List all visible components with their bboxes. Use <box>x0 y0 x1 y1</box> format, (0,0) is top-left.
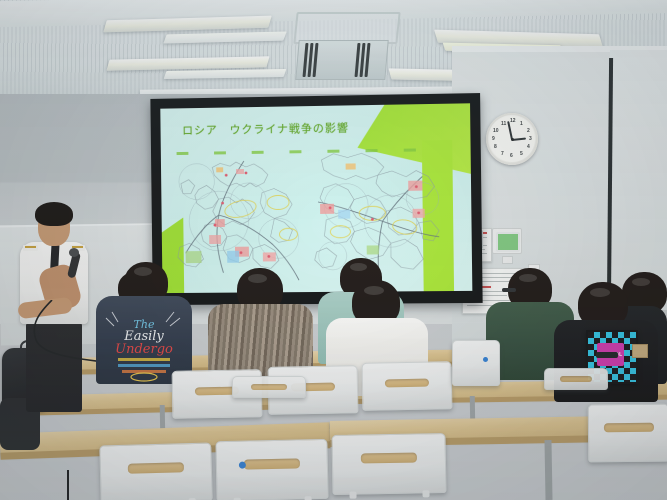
chair-row2-3[interactable] <box>362 361 453 411</box>
clock-numeral: 3 <box>529 137 532 142</box>
chair-row3-2[interactable] <box>544 368 608 390</box>
presenter-leg-seam <box>67 470 69 500</box>
slide-title: ロシア ウクライナ戦争の影響 <box>182 119 349 138</box>
clock-face: 12 1 2 3 4 5 6 7 8 9 10 11 <box>489 116 535 162</box>
laptop-closed-2 <box>596 352 618 358</box>
wall-clock: 12 1 2 3 4 5 6 7 8 9 10 11 <box>486 113 538 165</box>
epaulette-left <box>23 245 38 251</box>
clock-numeral: 2 <box>527 129 530 134</box>
clock-center-pin <box>511 138 514 141</box>
far-right-wall <box>610 50 667 310</box>
presenter-hair <box>35 202 73 226</box>
svg-text:Undergo: Undergo <box>115 342 173 357</box>
clock-numeral: 6 <box>510 154 513 159</box>
thermostat-display <box>496 232 520 252</box>
clock-numeral: 10 <box>493 129 499 134</box>
clock-numeral: 5 <box>520 152 523 157</box>
ceiling-air-vent <box>295 40 388 80</box>
classroom-photo: 12 1 2 3 4 5 6 7 8 9 10 11 <box>0 0 667 500</box>
projection-screen: ロシア ウクライナ戦争の影響 <box>150 93 482 305</box>
clock-numeral: 11 <box>501 122 506 127</box>
chair-row1-1[interactable] <box>99 443 212 500</box>
chair-row3-1[interactable] <box>232 376 306 398</box>
clock-hour-hand <box>512 138 526 141</box>
clock-numeral: 7 <box>501 152 504 157</box>
chair-row1-4[interactable] <box>588 404 667 463</box>
desk-leg <box>544 440 552 500</box>
clock-numeral: 9 <box>492 137 495 142</box>
chair-row1-2[interactable] <box>215 439 328 500</box>
europe-route-map <box>175 152 305 285</box>
small-wall-switch[interactable] <box>502 256 513 264</box>
clock-numeral: 1 <box>520 122 523 127</box>
microphone-head <box>69 248 79 257</box>
student-6-glasses <box>502 288 516 292</box>
chair-row2-4[interactable] <box>452 340 500 386</box>
clock-numeral: 8 <box>494 145 497 150</box>
projected-slide: ロシア ウクライナ戦争の影響 <box>160 103 472 293</box>
clock-numeral: 4 <box>527 145 530 150</box>
clock-numeral: 12 <box>510 119 516 124</box>
chair-row1-3[interactable] <box>331 433 446 495</box>
desk-box <box>632 344 648 358</box>
